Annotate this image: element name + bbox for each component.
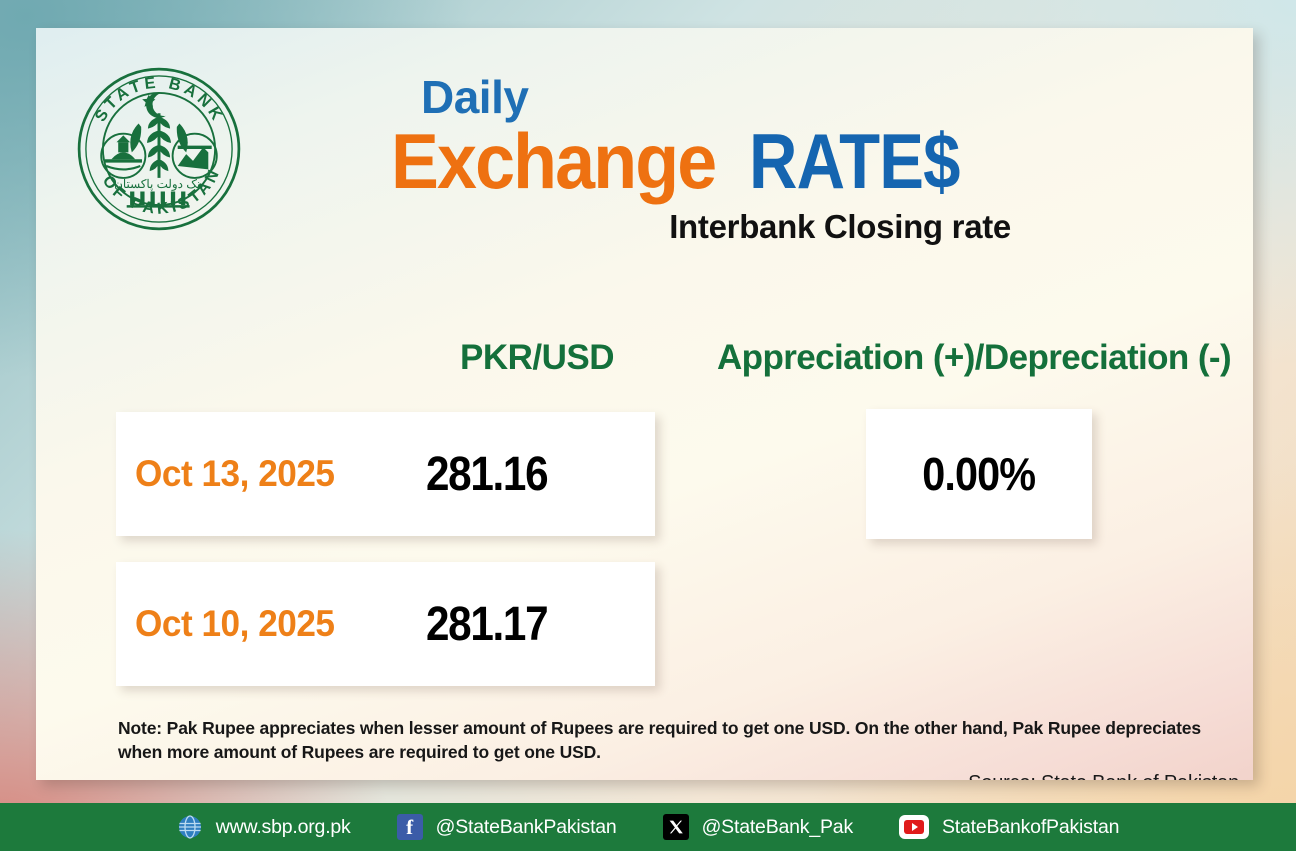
change-card: 0.00% bbox=[866, 409, 1092, 539]
rate-date: Oct 10, 2025 bbox=[116, 603, 411, 645]
rate-date: Oct 13, 2025 bbox=[116, 453, 411, 495]
footer-item-website[interactable]: www.sbp.org.pk bbox=[177, 814, 351, 840]
column-header-change: Appreciation (+)/Depreciation (-) bbox=[717, 338, 1231, 378]
youtube-play-icon bbox=[904, 820, 924, 834]
footer-label-website: www.sbp.org.pk bbox=[216, 816, 351, 839]
title-exchange: Exchange bbox=[391, 124, 715, 198]
footer-bar: www.sbp.org.pk f @StateBankPakistan @Sta… bbox=[0, 803, 1296, 851]
rate-value: 281.16 bbox=[426, 447, 547, 502]
footer-item-youtube[interactable]: StateBankofPakistan bbox=[899, 815, 1119, 839]
note-text: Note: Pak Rupee appreciates when lesser … bbox=[118, 716, 1208, 764]
sbp-logo: STATE BANK OF PAKISTAN bbox=[74, 64, 244, 234]
title-main: ExchangeRATE$ bbox=[391, 124, 1011, 198]
title-daily: Daily bbox=[421, 74, 1011, 120]
rate-row: Oct 13, 2025 281.16 bbox=[116, 412, 655, 536]
title-subtitle: Interbank Closing rate bbox=[391, 208, 1011, 246]
rate-value: 281.17 bbox=[426, 597, 547, 652]
title-block: Daily ExchangeRATE$ Interbank Closing ra… bbox=[391, 74, 1011, 246]
x-twitter-icon bbox=[663, 814, 689, 840]
change-value: 0.00% bbox=[923, 447, 1036, 501]
rate-row: Oct 10, 2025 281.17 bbox=[116, 562, 655, 686]
footer-label-facebook: @StateBankPakistan bbox=[436, 816, 617, 839]
svg-text:بنک دولت پاکستان: بنک دولت پاکستان bbox=[114, 177, 204, 191]
youtube-icon bbox=[899, 815, 929, 839]
footer-item-facebook[interactable]: f @StateBankPakistan bbox=[397, 814, 617, 840]
column-header-rate: PKR/USD bbox=[460, 338, 614, 378]
content-card: STATE BANK OF PAKISTAN bbox=[36, 28, 1253, 780]
title-rates: RATE$ bbox=[749, 124, 960, 198]
source-text: Source: State Bank of Pakistan bbox=[968, 772, 1239, 780]
facebook-icon: f bbox=[397, 814, 423, 840]
footer-label-youtube: StateBankofPakistan bbox=[942, 816, 1119, 839]
footer-label-x: @StateBank_Pak bbox=[702, 816, 853, 839]
globe-icon bbox=[177, 814, 203, 840]
exchange-rate-poster: STATE BANK OF PAKISTAN bbox=[0, 0, 1296, 851]
footer-item-x[interactable]: @StateBank_Pak bbox=[663, 814, 853, 840]
